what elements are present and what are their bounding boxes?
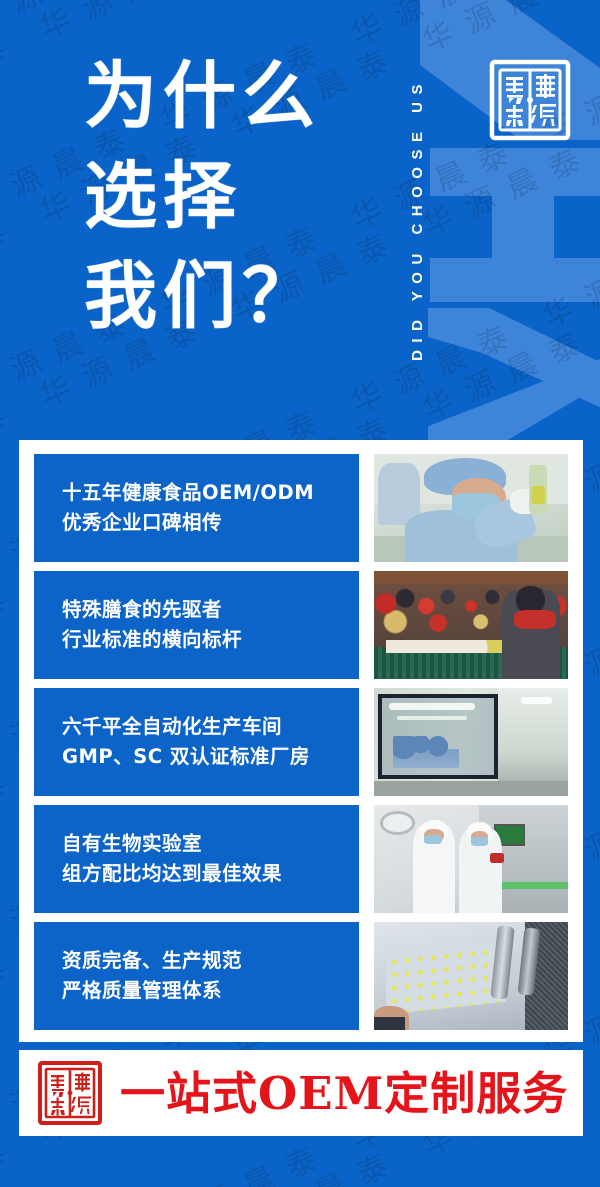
feature-row-4: 自有生物实验室 组方配比均达到最佳效果 — [34, 805, 568, 913]
feature-3-line-2: GMP、SC 双认证标准厂房 — [62, 742, 359, 772]
title-line-1: 为什么 — [84, 46, 321, 146]
feature-row-2: 特殊膳食的先驱者 行业标准的横向标杆 — [34, 571, 568, 679]
feature-text-block-2: 特殊膳食的先驱者 行业标准的横向标杆 — [34, 571, 359, 679]
poster-root: 为什么 选择 我们？ DID YOU CHOOSE US — [0, 0, 600, 1187]
title-line-3: 我们？ — [84, 246, 321, 346]
page-title: 为什么 选择 我们？ — [84, 46, 321, 346]
photo-cleanroom-corridor — [374, 688, 568, 796]
feature-text-block-4: 自有生物实验室 组方配比均达到最佳效果 — [34, 805, 359, 913]
vertical-english-text: DID YOU CHOOSE US — [409, 77, 426, 361]
vertical-english-caption: DID YOU CHOOSE US — [404, 24, 430, 414]
feature-4-line-2: 组方配比均达到最佳效果 — [62, 859, 359, 889]
photo-lab-technician — [374, 454, 568, 562]
feature-text-block-1: 十五年健康食品OEM/ODM 优秀企业口碑相传 — [34, 454, 359, 562]
feature-row-1: 十五年健康食品OEM/ODM 优秀企业口碑相传 — [34, 454, 568, 562]
feature-row-5: 资质完备、生产规范 严格质量管理体系 — [34, 922, 568, 1030]
letter-h-left-notch — [430, 196, 492, 236]
feature-text-block-3: 六千平全自动化生产车间 GMP、SC 双认证标准厂房 — [34, 688, 359, 796]
feature-row-3: 六千平全自动化生产车间 GMP、SC 双认证标准厂房 — [34, 688, 568, 796]
company-seal-red-icon — [36, 1059, 104, 1127]
title-line-2: 选择 — [84, 146, 321, 246]
letter-h-right-notch — [554, 196, 600, 236]
feature-5-line-1: 资质完备、生产规范 — [62, 946, 359, 976]
company-seal-header-icon — [487, 57, 573, 143]
feature-1-line-1: 十五年健康食品OEM/ODM — [62, 478, 359, 508]
feature-text-block-5: 资质完备、生产规范 严格质量管理体系 — [34, 922, 359, 1030]
feature-3-line-1: 六千平全自动化生产车间 — [62, 712, 359, 742]
banner-slogan: 一站式OEM定制服务 — [120, 1071, 568, 1116]
photo-blister-packing — [374, 922, 568, 1030]
letter-h-bottom-bar — [430, 258, 600, 302]
feature-4-line-1: 自有生物实验室 — [62, 829, 359, 859]
features-panel: 十五年健康食品OEM/ODM 优秀企业口碑相传 特殊膳食的先驱者 行业标准的横向… — [19, 440, 583, 1042]
feature-5-line-2: 严格质量管理体系 — [62, 976, 359, 1006]
bottom-banner: 一站式OEM定制服务 — [19, 1050, 583, 1136]
photo-lab-workers-line — [374, 805, 568, 913]
photo-conference-audience — [374, 571, 568, 679]
feature-2-line-1: 特殊膳食的先驱者 — [62, 595, 359, 625]
feature-1-line-2: 优秀企业口碑相传 — [62, 508, 359, 538]
feature-2-line-2: 行业标准的横向标杆 — [62, 625, 359, 655]
